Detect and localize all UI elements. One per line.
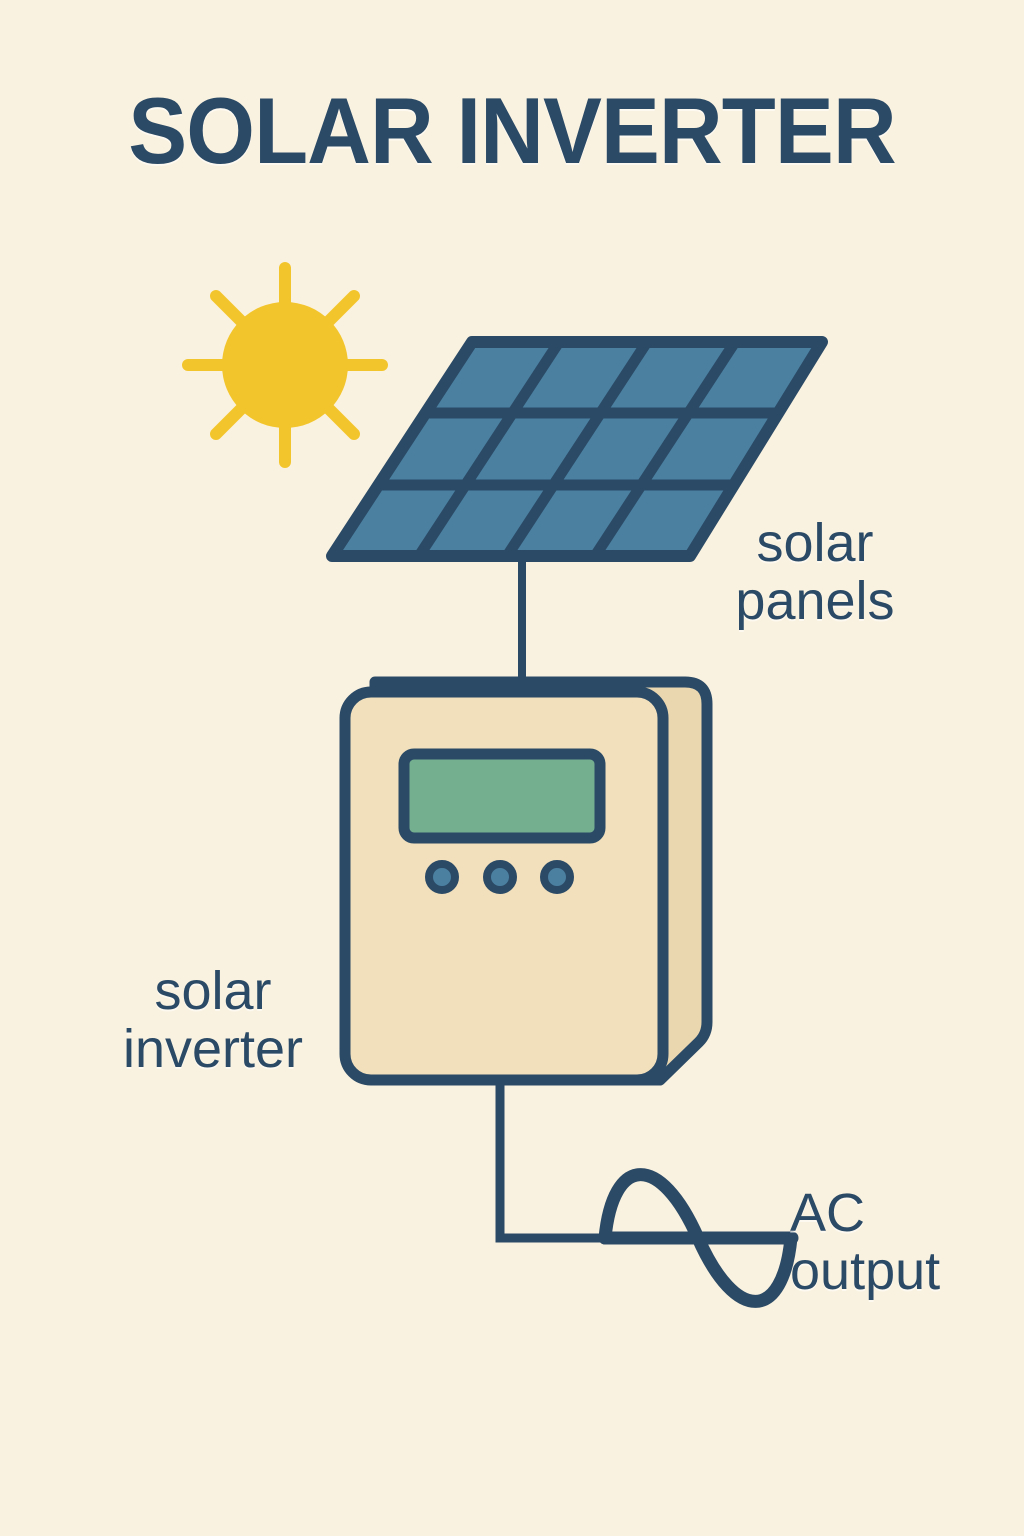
inverter-button-3[interactable] bbox=[544, 864, 570, 890]
lcd-screen bbox=[404, 754, 600, 838]
label-solar-panels: solar panels bbox=[690, 514, 940, 631]
label-solar-inverter: solar inverter bbox=[78, 962, 348, 1079]
solar-inverter-unit bbox=[345, 682, 707, 1080]
sun-icon bbox=[188, 268, 382, 462]
inverter-button-1[interactable] bbox=[429, 864, 455, 890]
label-ac-output: AC output bbox=[790, 1184, 1020, 1301]
poster-canvas: SOLAR INVERTER bbox=[0, 0, 1024, 1536]
ac-sine-wave bbox=[605, 1175, 792, 1302]
ac-cable bbox=[500, 1076, 612, 1238]
inverter-button-2[interactable] bbox=[487, 864, 513, 890]
inverter-button-group[interactable] bbox=[429, 864, 570, 890]
diagram-illustration bbox=[0, 0, 1024, 1536]
